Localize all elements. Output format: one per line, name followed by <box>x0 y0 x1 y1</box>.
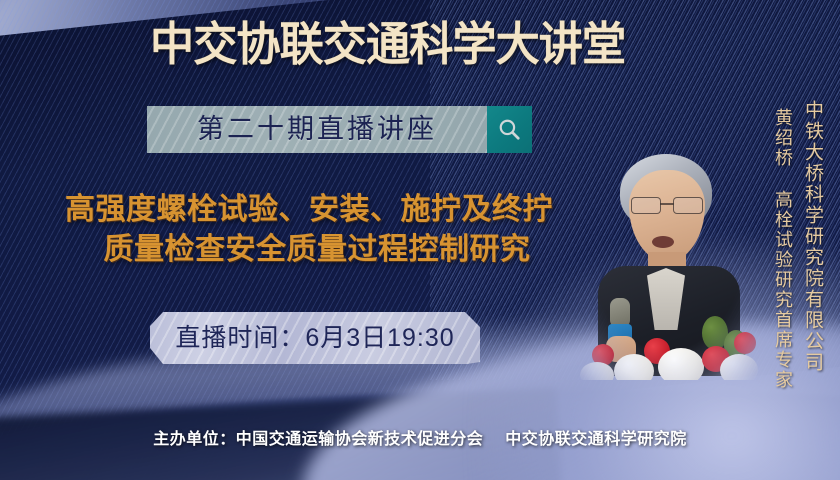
glasses-lens-left <box>631 197 661 214</box>
speaker-organization: 中铁大桥科学研究院有限公司 <box>799 100 826 373</box>
page-title: 中交协联交通科学大讲堂 <box>150 18 625 71</box>
search-icon <box>497 117 522 142</box>
poster-root: 中交协联交通科学大讲堂 第二十期直播讲座 高强度螺栓试验、安装、施拧及终拧 质量… <box>0 0 840 480</box>
footer-institute: 中交协联交通科学研究院 <box>505 431 687 448</box>
portrait-face <box>629 170 705 262</box>
bouquet-flower-white <box>658 348 704 380</box>
portrait-mouth <box>652 236 674 248</box>
search-button[interactable] <box>487 106 532 153</box>
glasses-lens-right <box>673 197 703 214</box>
footer-organizer: 主办单位：中国交通运输协会新技术促进分会 <box>153 431 483 448</box>
speaker-name-title: 黄绍桥 高栓试验研究首席专家 <box>770 108 796 390</box>
bouquet-flower-white <box>720 354 758 380</box>
subtitle-label: 第二十期直播讲座 <box>147 106 487 153</box>
bouquet-flower-red <box>734 332 756 354</box>
topic-title-line-2: 质量检查安全质量过程控制研究 <box>14 230 604 270</box>
broadcast-time-label: 直播时间：6月3日19:30 <box>150 312 480 364</box>
glasses-bridge <box>660 203 674 205</box>
topic-title-line-1: 高强度螺栓试验、安装、施拧及终拧 <box>14 190 604 230</box>
bouquet-flower-white <box>614 354 654 380</box>
glasses-icon <box>630 197 704 212</box>
topic-title: 高强度螺栓试验、安装、施拧及终拧 质量检查安全质量过程控制研究 <box>14 190 604 270</box>
broadcast-time-badge: 直播时间：6月3日19:30 <box>150 312 480 364</box>
subtitle-bar: 第二十期直播讲座 <box>147 106 487 153</box>
footer: 主办单位：中国交通运输协会新技术促进分会中交协联交通科学研究院 <box>0 425 840 449</box>
